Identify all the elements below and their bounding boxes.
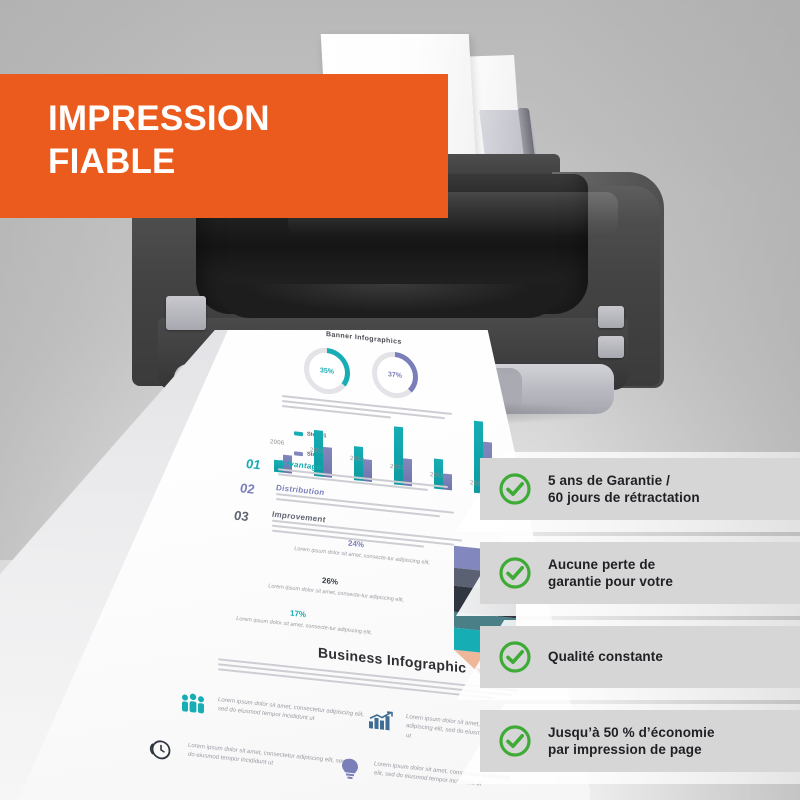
check-circle-icon (498, 556, 532, 590)
printout-icon-text-3: Lorem ipsum dolor sit amet, consectetur … (188, 742, 348, 777)
marketing-banner-image: Banner Infographics 35% 37% Step 01 (0, 0, 800, 800)
feature-3-line-1: Qualité constante (548, 648, 663, 665)
feature-card-3-label: Qualité constante (548, 648, 663, 665)
headline-line-2: FIABLE (48, 141, 440, 184)
printout-icon-cell-1: Lorem ipsum dolor sit amet, consectetur … (180, 692, 370, 732)
feature-list: 5 ans de Garantie / 60 jours de rétracta… (456, 452, 800, 800)
lightbulb-icon (338, 757, 362, 782)
feature-4-line-1: Jusqu’à 50 % d’économie (548, 724, 715, 741)
printer-side-button-2[interactable] (598, 336, 624, 358)
check-circle-icon (498, 472, 532, 506)
pencil-pct-1: 24% (348, 539, 364, 550)
printer-side-button-1[interactable] (598, 306, 624, 328)
pencil-pct-3: 17% (290, 609, 306, 620)
check-circle-icon (498, 724, 532, 758)
pencil-pct-2: 26% (322, 576, 338, 587)
printout-heading: Banner Infographics (326, 331, 402, 346)
printer-power-button[interactable] (166, 296, 206, 330)
feature-2-line-1: Aucune perte de (548, 556, 673, 573)
printout-icon-cell-3: Lorem ipsum dolor sit amet, consectetur … (148, 737, 348, 780)
step-number-03: 03 (234, 508, 248, 525)
step-number-02: 02 (240, 480, 254, 497)
printer-drum-lip (216, 284, 562, 318)
feature-card-1[interactable]: 5 ans de Garantie / 60 jours de rétracta… (480, 458, 800, 520)
clock-icon (148, 737, 174, 762)
feature-card-1-label: 5 ans de Garantie / 60 jours de rétracta… (548, 472, 700, 507)
feature-2-line-2: garantie pour votre (548, 573, 673, 590)
step-number-01: 01 (246, 456, 260, 473)
feature-card-3[interactable]: Qualité constante (480, 626, 800, 688)
feature-4-line-2: par impression de page (548, 741, 715, 758)
feature-1-line-2: 60 jours de rétractation (548, 489, 700, 506)
printout-icon-text-1: Lorem ipsum dolor sit amet, consectetur … (218, 696, 370, 731)
feature-card-4-label: Jusqu’à 50 % d’économie par impression d… (548, 724, 715, 759)
headline-text: IMPRESSION FIABLE (48, 98, 440, 183)
bar-chart-growth-icon (368, 709, 394, 732)
feature-card-2-label: Aucune perte de garantie pour votre (548, 556, 673, 591)
feature-1-line-1: 5 ans de Garantie / (548, 472, 700, 489)
check-circle-icon (498, 640, 532, 674)
feature-card-4[interactable]: Jusqu’à 50 % d’économie par impression d… (480, 710, 800, 772)
feature-card-2[interactable]: Aucune perte de garantie pour votre (480, 542, 800, 604)
headline-line-1: IMPRESSION (48, 98, 440, 141)
people-group-icon (180, 692, 206, 715)
